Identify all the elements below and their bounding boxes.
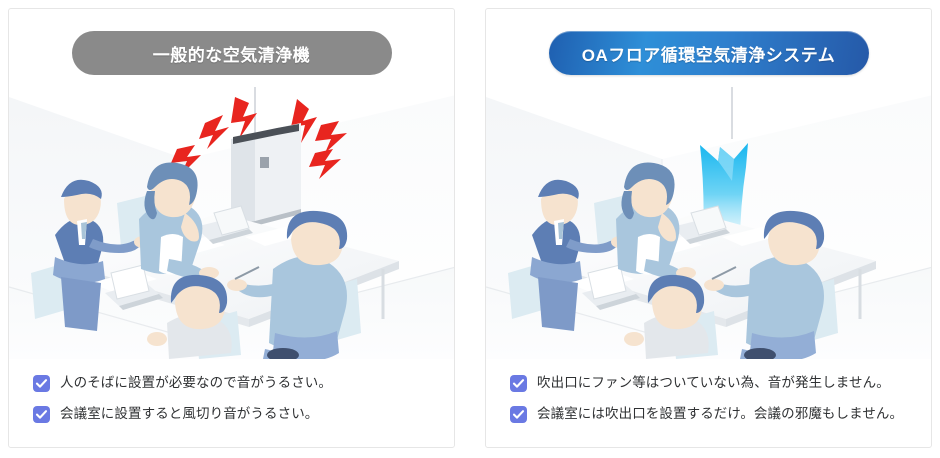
list-item: 会議室に設置すると風切り音がうるさい。: [33, 405, 436, 423]
check-icon: [33, 406, 50, 423]
checklist-conventional: 人のそばに設置が必要なので音がうるさい。 会議室に設置すると風切り音がうるさい。: [33, 374, 436, 423]
checklist-oa-floor-system: 吹出口にファン等はついていない為、音が発生しません。 会議室には吹出口を設置する…: [510, 374, 913, 423]
title-pill-wrap-right: OAフロア循環空気清浄システム: [486, 31, 931, 75]
list-item: 吹出口にファン等はついていない為、音が発生しません。: [510, 374, 913, 392]
list-item: 人のそばに設置が必要なので音がうるさい。: [33, 374, 436, 392]
checklist-label: 人のそばに設置が必要なので音がうるさい。: [60, 374, 332, 392]
card-title-conventional: 一般的な空気清浄機: [72, 31, 392, 75]
checklist-label: 会議室には吹出口を設置するだけ。会議の邪魔もしません。: [537, 405, 903, 423]
illustration-oa-floor-system: [486, 87, 932, 359]
card-oa-floor-system: OAフロア循環空気清浄システム: [485, 8, 932, 448]
checklist-label: 吹出口にファン等はついていない為、音が発生しません。: [537, 374, 890, 392]
card-title-oa-floor-system: OAフロア循環空気清浄システム: [549, 31, 869, 75]
check-icon: [510, 375, 527, 392]
check-icon: [510, 406, 527, 423]
check-icon: [33, 375, 50, 392]
illustration-conventional: [9, 87, 455, 359]
list-item: 会議室には吹出口を設置するだけ。会議の邪魔もしません。: [510, 405, 913, 423]
comparison-panels: 一般的な空気清浄機: [0, 0, 940, 458]
card-conventional: 一般的な空気清浄機: [8, 8, 455, 448]
title-pill-wrap-left: 一般的な空気清浄機: [9, 31, 454, 75]
checklist-label: 会議室に設置すると風切り音がうるさい。: [60, 405, 318, 423]
